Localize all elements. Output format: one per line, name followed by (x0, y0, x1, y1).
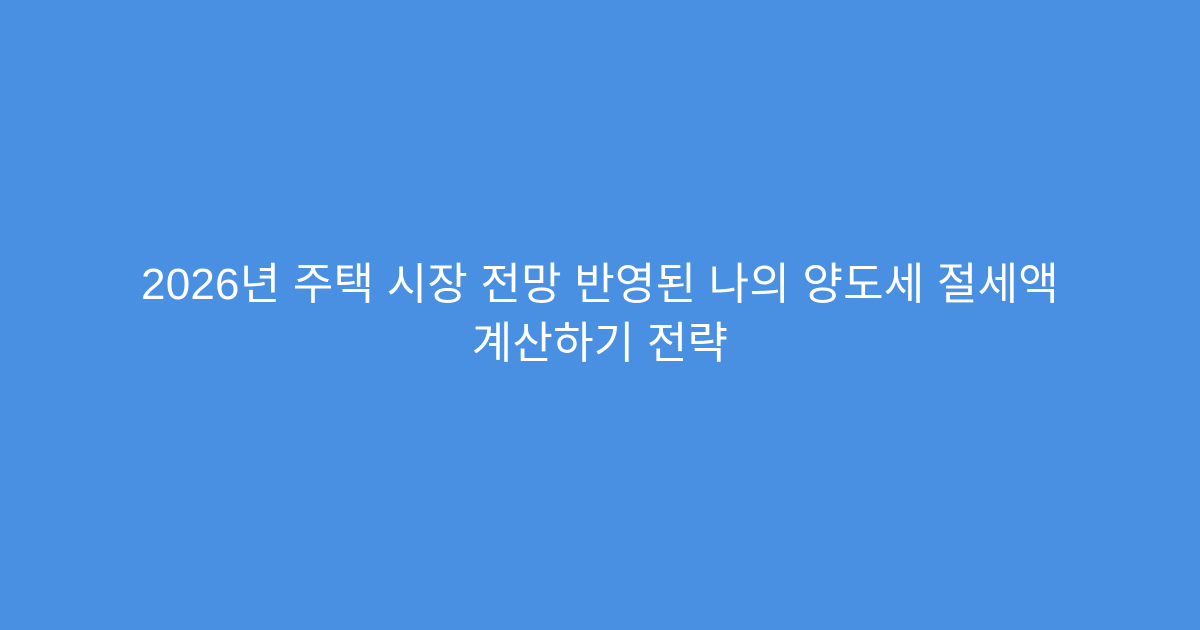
title-block: 2026년 주택 시장 전망 반영된 나의 양도세 절세액 계산하기 전략 (0, 256, 1200, 374)
page-title: 2026년 주택 시장 전망 반영된 나의 양도세 절세액 계산하기 전략 (64, 256, 1136, 374)
og-title-card: 2026년 주택 시장 전망 반영된 나의 양도세 절세액 계산하기 전략 (0, 0, 1200, 630)
